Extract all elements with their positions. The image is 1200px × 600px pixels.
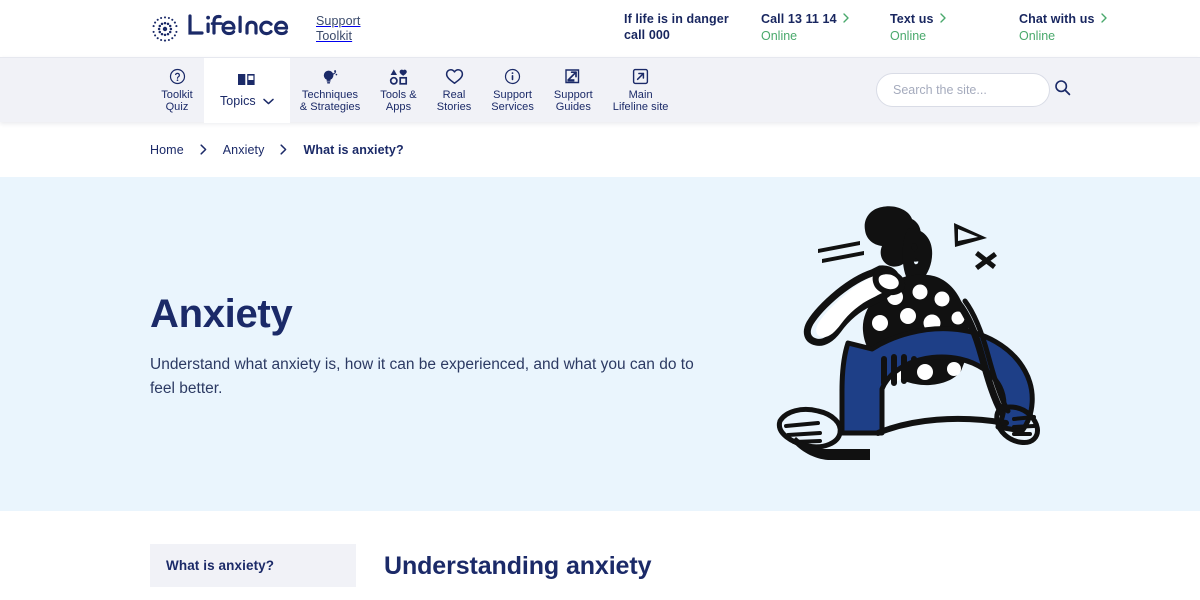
chevron-right-icon: [843, 11, 849, 27]
brand-sub-line2: Toolkit: [316, 29, 352, 43]
nav-item-real-stories[interactable]: Real Stories: [427, 58, 482, 123]
breadcrumb-item-anxiety[interactable]: Anxiety: [223, 143, 265, 157]
contact-text[interactable]: Text us Online: [890, 11, 1002, 44]
breadcrumb: Home Anxiety What is anxiety?: [0, 122, 1200, 177]
site-search[interactable]: [876, 73, 1050, 107]
contact-call-label: Call 13 11 14: [761, 11, 837, 27]
contact-text-status: Online: [890, 28, 1002, 44]
question-circle-icon: [169, 68, 186, 85]
external-link-icon: [632, 68, 649, 85]
nav-item-tools-apps-label: Tools & Apps: [380, 89, 416, 114]
shapes-grid-icon: [389, 68, 408, 85]
lifeline-logo: [150, 11, 305, 46]
hero-text: Anxiety Understand what anxiety is, how …: [150, 290, 710, 401]
chevron-right-icon: [264, 144, 303, 155]
page-title: Anxiety: [150, 290, 710, 338]
section-heading: Understanding anxiety: [384, 550, 651, 582]
side-nav-item-feeling-anxiety[interactable]: Feeling anxiety: [150, 587, 356, 600]
chevron-right-icon: [184, 144, 223, 155]
emergency-line2: call 000: [624, 28, 670, 42]
nav-item-topics[interactable]: Topics: [204, 58, 290, 123]
nav-item-support-guides-label: Support Guides: [554, 89, 593, 114]
emergency-notice: If life is in danger call 000: [624, 11, 750, 43]
nav-item-tools-apps[interactable]: Tools & Apps: [370, 58, 426, 123]
header-contacts: If life is in danger call 000 Call 13 11…: [624, 11, 1131, 44]
contact-chat-label: Chat with us: [1019, 11, 1095, 27]
nav-item-real-stories-label: Real Stories: [437, 89, 472, 114]
lifeline-wordmark: [187, 11, 305, 46]
nav-item-techniques-strategies[interactable]: Techniques & Strategies: [290, 58, 371, 123]
contact-call[interactable]: Call 13 11 14 Online: [761, 11, 873, 44]
nav-item-support-services-label: Support Services: [491, 89, 534, 114]
chevron-down-icon: [263, 92, 274, 110]
seated-woman-illustration: [762, 183, 1062, 473]
contact-chat-top: Chat with us: [1019, 11, 1131, 27]
contact-chat-status: Online: [1019, 28, 1131, 44]
lifeline-mark-icon: [150, 14, 180, 44]
nav-item-support-services[interactable]: Support Services: [481, 58, 544, 123]
nav-item-main-lifeline-site-label: Main Lifeline site: [613, 89, 669, 114]
contact-text-label: Text us: [890, 11, 934, 27]
breadcrumb-item-home[interactable]: Home: [150, 143, 184, 157]
chevron-right-icon: [940, 11, 946, 27]
heart-icon: [445, 68, 464, 85]
nav-item-toolkit-quiz-label: Toolkit Quiz: [161, 89, 193, 114]
content-section: What is anxiety? Feeling anxiety Underst…: [0, 511, 1200, 600]
nav-item-topics-row: Topics: [220, 92, 274, 110]
guide-arrow-icon: [564, 68, 582, 85]
breadcrumb-item-current: What is anxiety?: [303, 143, 403, 157]
contact-chat[interactable]: Chat with us Online: [1019, 11, 1131, 44]
lightbulb-icon: [321, 68, 339, 85]
nav-item-techniques-strategies-label: Techniques & Strategies: [300, 89, 361, 114]
emergency-line1: If life is in danger: [624, 12, 729, 26]
nav-item-main-lifeline-site[interactable]: Main Lifeline site: [603, 58, 679, 123]
brand-sub-line1: Support: [316, 14, 360, 28]
book-icon: [237, 71, 256, 88]
brand-subtitle: Support Toolkit: [316, 13, 360, 44]
logo-link[interactable]: Support Toolkit: [150, 11, 360, 46]
contact-call-top: Call 13 11 14: [761, 11, 873, 27]
contact-call-status: Online: [761, 28, 873, 44]
hero-description: Understand what anxiety is, how it can b…: [150, 353, 698, 401]
contact-text-top: Text us: [890, 11, 1002, 27]
nav-item-topics-label: Topics: [220, 94, 256, 108]
section-side-nav: What is anxiety? Feeling anxiety: [150, 544, 356, 600]
side-nav-item-what-is-anxiety[interactable]: What is anxiety?: [150, 544, 356, 587]
main-nav-bar: Toolkit Quiz Topics Techniques & Strateg…: [0, 57, 1200, 122]
nav-item-toolkit-quiz[interactable]: Toolkit Quiz: [150, 58, 204, 123]
chevron-right-icon: [1101, 11, 1107, 27]
content-main: Understanding anxiety: [356, 544, 651, 600]
hero-section: Anxiety Understand what anxiety is, how …: [0, 177, 1200, 511]
site-header: Support Toolkit If life is in danger cal…: [0, 0, 1200, 57]
search-input[interactable]: [893, 83, 1054, 97]
search-icon[interactable]: [1054, 79, 1071, 101]
info-circle-icon: [504, 68, 521, 85]
nav-item-support-guides[interactable]: Support Guides: [544, 58, 603, 123]
